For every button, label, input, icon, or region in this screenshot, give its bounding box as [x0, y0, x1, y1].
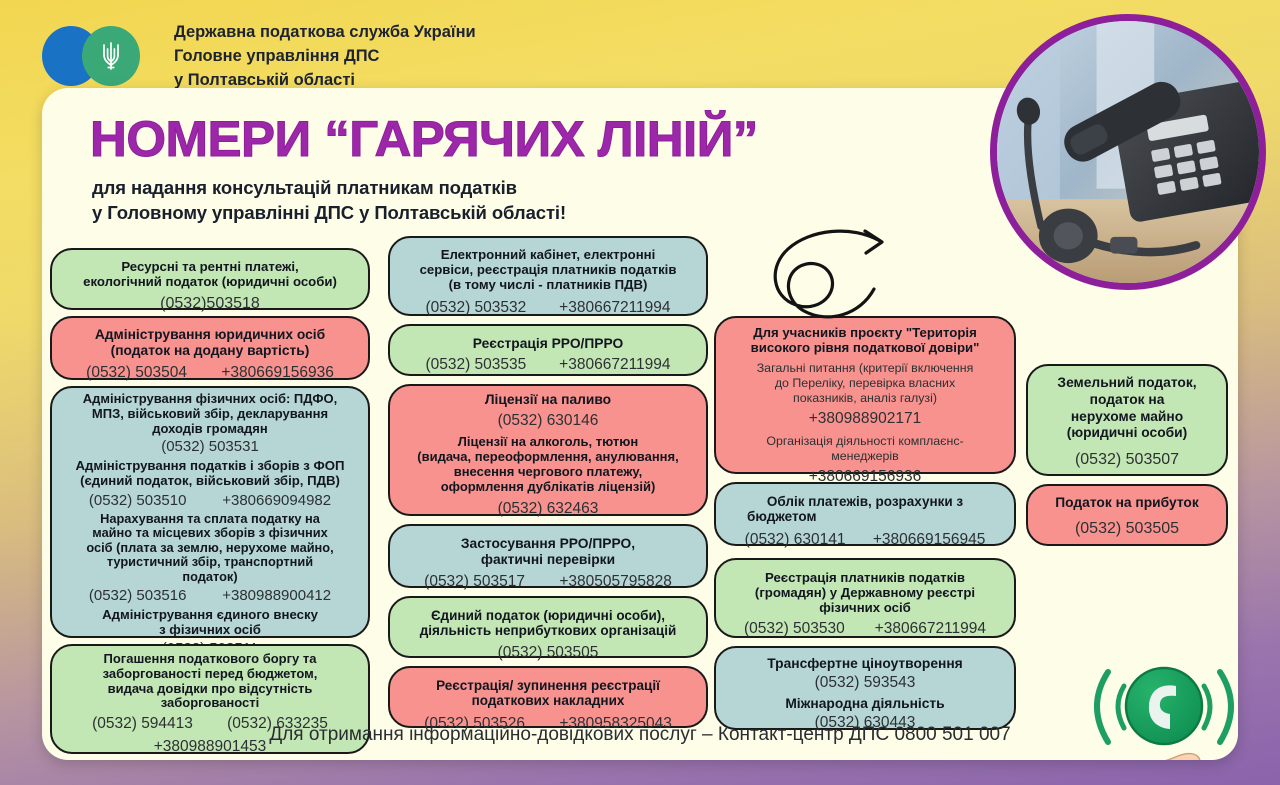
box-individuals-admin[interactable]: Адміністрування фізичних осіб: ПДФО, МПЗ…	[50, 386, 370, 638]
box-tax-invoices-registration[interactable]: Реєстрація/ зупинення реєстрації податко…	[388, 666, 708, 728]
box-title: Єдиний податок (юридичні особи), діяльні…	[399, 604, 697, 639]
box-phone[interactable]: +380988900412	[222, 587, 331, 605]
box-electronic-cabinet[interactable]: Електронний кабінет, електронні сервіси,…	[388, 236, 708, 316]
org-line-1: Державна податкова служба України	[174, 22, 476, 43]
box-phone[interactable]: (0532) 593543	[725, 672, 1005, 697]
box-phone[interactable]: (0532) 503505	[1037, 511, 1217, 538]
subtitle-line-1: для надання консультацій платникам подат…	[92, 176, 566, 201]
box-phone[interactable]: (0532) 632463	[399, 495, 697, 519]
box-profit-tax[interactable]: Податок на прибуток (0532) 503505	[1026, 484, 1228, 546]
box-phone[interactable]: (0532) 503507	[1037, 442, 1217, 469]
box-title: Ресурсні та рентні платежі, екологічний …	[61, 256, 359, 289]
box-land-property-tax[interactable]: Земельний податок, податок на нерухоме м…	[1026, 364, 1228, 476]
box-phone[interactable]: (0532)503518	[61, 289, 359, 313]
box-title: Земельний податок, податок на нерухоме м…	[1037, 375, 1217, 442]
box-resource-rent-eco[interactable]: Ресурсні та рентні платежі, екологічний …	[50, 248, 370, 310]
box-phone[interactable]: (0532) 503516	[89, 587, 187, 605]
box-phone[interactable]: +380669094982	[222, 492, 331, 510]
brand-text: Державна податкова служба України Головн…	[174, 22, 476, 91]
box-phone[interactable]: +380667211994	[559, 299, 670, 318]
org-line-2: Головне управління ДПС	[174, 46, 476, 67]
box-title: Облік платежів, розрахунки з бюджетом	[725, 490, 1005, 525]
box-phones: (0532) 503535 +380667211994	[399, 352, 697, 375]
headset-desk-phone-photo-icon	[997, 21, 1259, 283]
page-title: НОМЕРИ “ГАРЯЧИХ ЛІНІЙ”	[90, 110, 758, 168]
page-subtitle: для надання консультацій платникам подат…	[92, 176, 566, 225]
ringing-phone-in-hand-icon	[1064, 650, 1238, 760]
box-phones: (0532) 503530 +380667211994	[725, 615, 1005, 639]
box-phone[interactable]: (0532) 503517	[424, 573, 525, 592]
sub-block-title: Адміністрування податків і зборів з ФОП …	[61, 458, 359, 488]
dps-logo	[42, 26, 160, 88]
box-phone[interactable]: (0532) 503531	[61, 436, 359, 458]
box-phone[interactable]: (0532) 630141	[745, 531, 846, 550]
box-phones: (0532) 503516 +380988900412	[61, 584, 359, 607]
box-title: Реєстрація платників податків (громадян)…	[725, 566, 1005, 615]
box-transfer-pricing-international[interactable]: Трансфертне ціноутворення (0532) 593543 …	[714, 646, 1016, 730]
headset-phone-photo	[990, 14, 1266, 290]
sub-block-title: Адміністрування єдиного внеску з фізични…	[61, 607, 359, 637]
box-phone[interactable]: +380669156945	[873, 531, 986, 550]
brand-header: Державна податкова служба України Головн…	[42, 22, 476, 91]
box-phone[interactable]: (0532) 503510	[89, 492, 187, 510]
sub-block-title: Трансфертне ціноутворення	[725, 656, 1005, 672]
box-fuel-alcohol-licenses[interactable]: Ліцензії на паливо (0532) 630146 Ліцензі…	[388, 384, 708, 516]
box-phone[interactable]: +380669156936	[221, 364, 334, 383]
box-rro-registration[interactable]: Реєстрація РРО/ПРРО (0532) 503535 +38066…	[388, 324, 708, 376]
swirl-arrow-icon	[732, 223, 892, 353]
box-phones: (0532) 503510 +380669094982	[61, 489, 359, 512]
box-phone[interactable]: +380667211994	[875, 620, 986, 639]
box-legal-entities-vat[interactable]: Адміністрування юридичних осіб (податок …	[50, 316, 370, 380]
box-title: Реєстрація/ зупинення реєстрації податко…	[399, 674, 697, 709]
box-title: Погашення податкового боргу та заборгова…	[61, 652, 359, 711]
sub-block-title: Ліцензії на алкоголь, тютюн (видача, пер…	[399, 435, 697, 494]
box-phones: (0532) 630141 +380669156945	[725, 525, 1005, 550]
box-phone[interactable]: (0532) 503535	[425, 356, 526, 375]
box-phone[interactable]: (0532) 503505	[399, 639, 697, 663]
sub-block-title: Ліцензії на паливо	[399, 392, 697, 408]
box-phone[interactable]: +380667211994	[559, 356, 670, 375]
box-phones: (0532) 503504 +380669156936	[61, 358, 359, 383]
box-rro-application-checks[interactable]: Застосування РРО/ПРРО, фактичні перевірк…	[388, 524, 708, 588]
box-single-tax-legal[interactable]: Єдиний податок (юридичні особи), діяльні…	[388, 596, 708, 658]
sub-block-title: Адміністрування фізичних осіб: ПДФО, МПЗ…	[61, 392, 359, 436]
box-phones: (0532) 503517 +380505795828	[399, 567, 697, 592]
sub-block-title: Нарахування та сплата податку на майно т…	[61, 512, 359, 585]
logo-green-circle	[82, 26, 140, 86]
sub-block-text: Організація діяльності комплаєнс- менедж…	[725, 434, 1005, 464]
box-phone[interactable]: (0532) 503532	[425, 299, 526, 318]
footer-contact-center: Для отримання інформаційно-довідкових по…	[42, 724, 1238, 746]
box-title: Застосування РРО/ПРРО, фактичні перевірк…	[399, 532, 697, 567]
box-phones: (0532) 503532 +380667211994	[399, 292, 697, 318]
box-payments-accounting[interactable]: Облік платежів, розрахунки з бюджетом (0…	[714, 482, 1016, 546]
box-title: Електронний кабінет, електронні сервіси,…	[399, 244, 697, 292]
box-phone[interactable]: (0532) 630146	[399, 408, 697, 436]
box-title: Реєстрація РРО/ПРРО	[399, 332, 697, 352]
box-phone[interactable]: +380505795828	[559, 573, 672, 592]
sub-block-text: Загальні питання (критерії включення до …	[725, 355, 1005, 406]
tryzub-icon	[100, 40, 122, 72]
box-title: Податок на прибуток	[1037, 495, 1217, 511]
subtitle-line-2: у Головному управлінні ДПС у Полтавській…	[92, 201, 566, 226]
box-phone[interactable]: (0532) 503530	[744, 620, 845, 639]
box-phone[interactable]: +380988902171	[725, 406, 1005, 435]
box-citizens-registration[interactable]: Реєстрація платників податків (громадян)…	[714, 558, 1016, 638]
sub-block-title: Міжнародна діяльність	[725, 696, 1005, 712]
box-title: Адміністрування юридичних осіб (податок …	[61, 324, 359, 358]
box-phone[interactable]: (0532) 503504	[86, 364, 187, 383]
